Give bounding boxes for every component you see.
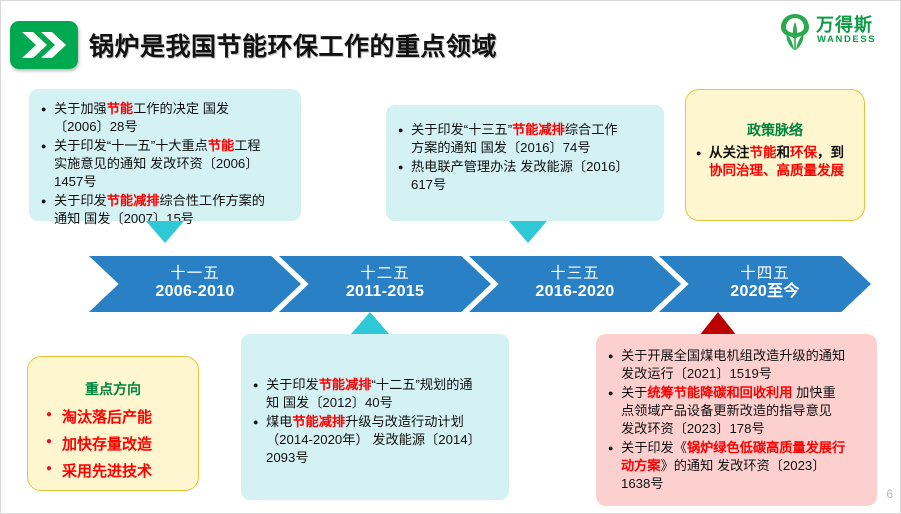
timeline-stage-years: 2020至今	[659, 282, 871, 301]
timeline-stage-name: 十三五	[469, 256, 681, 282]
connector-arrow-down	[146, 221, 184, 243]
list-item: 采用先进技术	[46, 459, 188, 485]
list-item: 热电联产管理办法 发改能源〔2016〕 617号	[398, 158, 652, 194]
timeline-stage-name: 十四五	[659, 256, 871, 282]
list-item: 关于开展全国煤电机组改造升级的通知 发改运行〔2021〕1519号	[608, 347, 867, 383]
list-item: 煤电节能减排升级与改造行动计划 （2014-2020年） 发改能源〔2014〕 …	[253, 413, 499, 467]
timeline-stage-14th[interactable]: 十四五 2020至今	[659, 256, 871, 312]
logo-text-en: WANDESS	[817, 34, 876, 45]
list-item: 淘汰落后产能	[46, 405, 188, 431]
focus-directions-box: 重点方向 淘汰落后产能 加快存量改造 采用先进技术	[27, 356, 199, 491]
timeline-stage-years: 2016-2020	[469, 282, 681, 301]
timeline-stage-11th[interactable]: 十一五 2006-2010	[89, 256, 301, 312]
policy-box-11th-fyp: 关于加强节能工作的决定 国发 〔2006〕28号 关于印发“十一五”十大重点节能…	[29, 89, 301, 221]
policy-box-14th-fyp: 关于开展全国煤电机组改造升级的通知 发改运行〔2021〕1519号 关于统筹节能…	[596, 334, 877, 506]
connector-arrow-up-highlight	[699, 312, 737, 336]
list-item: 关于印发《锅炉绿色低碳高质量发展行 动方案》的通知 发改环资〔2023〕 163…	[608, 439, 867, 493]
timeline-stage-13th[interactable]: 十三五 2016-2020	[469, 256, 681, 312]
timeline-stage-12th[interactable]: 十二五 2011-2015	[279, 256, 491, 312]
list-item: 关于印发“十三五”节能减排综合工作 方案的通知 国发〔2016〕74号	[398, 121, 652, 157]
list-item: 加快存量改造	[46, 432, 188, 458]
policy-context-box: 政策脉络 从关注节能和环保，到 协同治理、高质量发展	[685, 89, 865, 221]
list-item: 关于统筹节能降碳和回收利用 加快重 点领域产品设备更新改造的指导意见 发改环资〔…	[608, 384, 867, 438]
list-item: 关于加强节能工作的决定 国发 〔2006〕28号	[41, 100, 289, 136]
list-item: 关于印发节能减排“十二五”规划的通 知 国发〔2012〕40号	[253, 376, 499, 412]
connector-arrow-down	[509, 221, 547, 243]
policy-box-13th-fyp: 关于印发“十三五”节能减排综合工作 方案的通知 国发〔2016〕74号 热电联产…	[386, 105, 664, 221]
timeline-stage-years: 2006-2010	[89, 282, 301, 301]
policy-box-12th-fyp: 关于印发节能减排“十二五”规划的通 知 国发〔2012〕40号 煤电节能减排升级…	[241, 334, 509, 500]
connector-arrow-up	[351, 312, 389, 334]
timeline-stage-name: 十一五	[89, 256, 301, 282]
timeline-stage-name: 十二五	[279, 256, 491, 282]
page-number: 6	[886, 487, 893, 501]
green-leaf-sprout-icon	[778, 13, 812, 56]
timeline-stage-years: 2011-2015	[279, 282, 491, 301]
page-title: 锅炉是我国节能环保工作的重点领域	[89, 27, 497, 63]
slide-canvas: 锅炉是我国节能环保工作的重点领域 万得斯 WANDESS 关于加强节能工作的决定…	[0, 0, 901, 514]
list-item: 关于印发“十一五”十大重点节能工程 实施意见的通知 发改环资〔2006〕 145…	[41, 137, 289, 191]
policy-context-heading: 政策脉络	[696, 120, 854, 140]
company-logo: 万得斯 WANDESS	[778, 11, 890, 55]
focus-directions-heading: 重点方向	[46, 379, 188, 399]
double-chevron-right-icon	[10, 21, 78, 69]
list-item: 从关注节能和环保，到 协同治理、高质量发展	[696, 144, 854, 180]
